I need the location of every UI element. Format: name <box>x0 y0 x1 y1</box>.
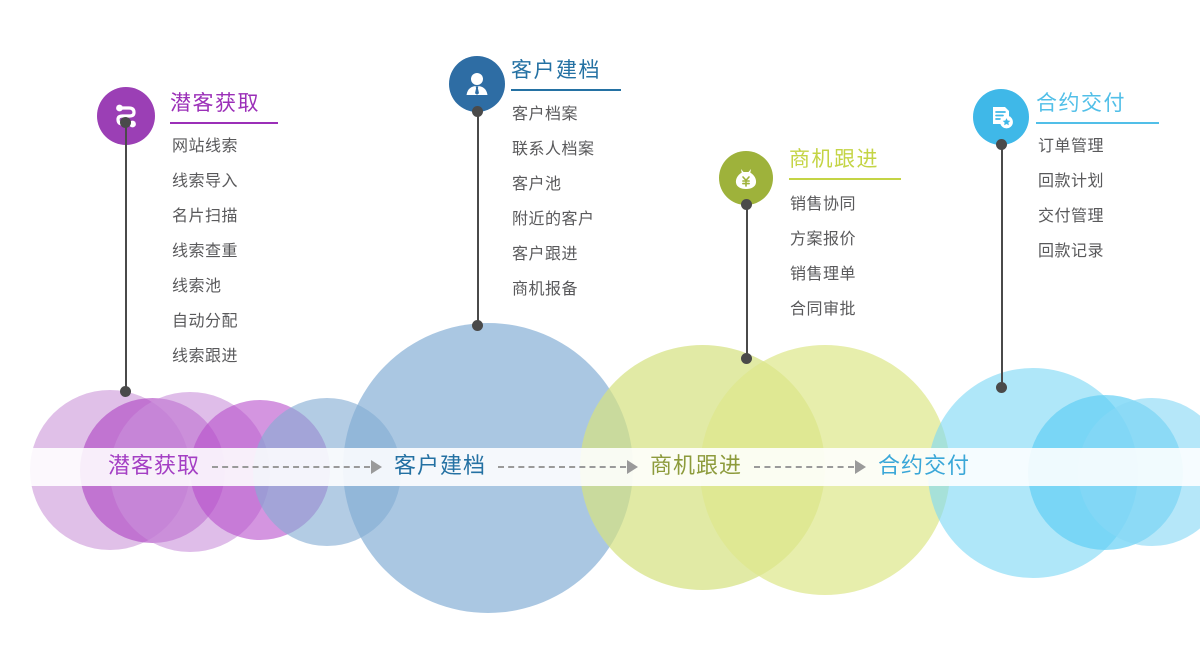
list-item: 交付管理 <box>1038 198 1104 233</box>
stage-title-opportunity-follow-up: 商机跟进 <box>789 143 879 173</box>
flow-arrow-1 <box>212 466 382 468</box>
money-bag-yen-icon <box>719 151 773 205</box>
list-item: 客户跟进 <box>512 236 595 271</box>
flow-arrow-head <box>371 460 382 474</box>
connector-line <box>746 204 748 359</box>
stage-title-underline <box>1036 122 1159 124</box>
list-item: 线索池 <box>172 268 238 303</box>
stage-item-list-contract-delivery: 订单管理 回款计划 交付管理 回款记录 <box>1038 128 1104 268</box>
flow-arrow-dash <box>212 466 370 468</box>
stage-title-underline <box>511 89 621 91</box>
list-item: 销售理单 <box>790 256 856 291</box>
flow-step-label-3: 商机跟进 <box>650 448 742 486</box>
flow-step-label-1: 潜客获取 <box>108 448 200 486</box>
list-item: 名片扫描 <box>172 198 238 233</box>
list-item: 合同审批 <box>790 291 856 326</box>
connector-line <box>125 122 127 392</box>
stage-item-list-lead-acquisition: 网站线索 线索导入 名片扫描 线索查重 线索池 自动分配 线索跟进 <box>172 128 238 373</box>
stage-item-list-customer-profiling: 客户档案 联系人档案 客户池 附近的客户 客户跟进 商机报备 <box>512 96 595 306</box>
list-item: 订单管理 <box>1038 128 1104 163</box>
process-diagram: 潜客获取 客户建档 商机跟进 合约交付 潜客获取 <box>0 0 1200 666</box>
list-item: 线索查重 <box>172 233 238 268</box>
connector-dot-bottom <box>120 386 131 397</box>
connector-dot-bottom <box>996 382 1007 393</box>
list-item: 网站线索 <box>172 128 238 163</box>
list-item: 线索导入 <box>172 163 238 198</box>
list-item: 自动分配 <box>172 303 238 338</box>
connector-line <box>477 111 479 326</box>
flow-band: 潜客获取 客户建档 商机跟进 合约交付 <box>0 448 1200 486</box>
connector-dot-bottom <box>741 353 752 364</box>
list-item: 回款记录 <box>1038 233 1104 268</box>
flow-step-label-4: 合约交付 <box>878 448 970 486</box>
list-item: 销售协同 <box>790 186 856 221</box>
flow-step-label-2: 客户建档 <box>394 448 486 486</box>
list-item: 客户档案 <box>512 96 595 131</box>
list-item: 方案报价 <box>790 221 856 256</box>
flow-arrow-head <box>627 460 638 474</box>
stage-title-underline <box>789 178 901 180</box>
list-item: 附近的客户 <box>512 201 595 236</box>
list-item: 客户池 <box>512 166 595 201</box>
person-tie-icon <box>449 56 505 112</box>
stage-title-contract-delivery: 合约交付 <box>1036 87 1126 117</box>
flow-arrow-2 <box>498 466 638 468</box>
stage-title-customer-profiling: 客户建档 <box>511 54 601 84</box>
connector-line <box>1001 144 1003 388</box>
list-item: 商机报备 <box>512 271 595 306</box>
document-star-icon <box>973 89 1029 145</box>
connector-dot-bottom <box>472 320 483 331</box>
stage-item-list-opportunity-follow-up: 销售协同 方案报价 销售理单 合同审批 <box>790 186 856 326</box>
list-item: 线索跟进 <box>172 338 238 373</box>
stage-title-lead-acquisition: 潜客获取 <box>170 87 260 117</box>
flow-arrow-head <box>855 460 866 474</box>
stage-title-underline <box>170 122 278 124</box>
list-item: 联系人档案 <box>512 131 595 166</box>
flow-arrow-dash <box>754 466 854 468</box>
flow-arrow-3 <box>754 466 866 468</box>
flow-arrow-dash <box>498 466 626 468</box>
list-item: 回款计划 <box>1038 163 1104 198</box>
